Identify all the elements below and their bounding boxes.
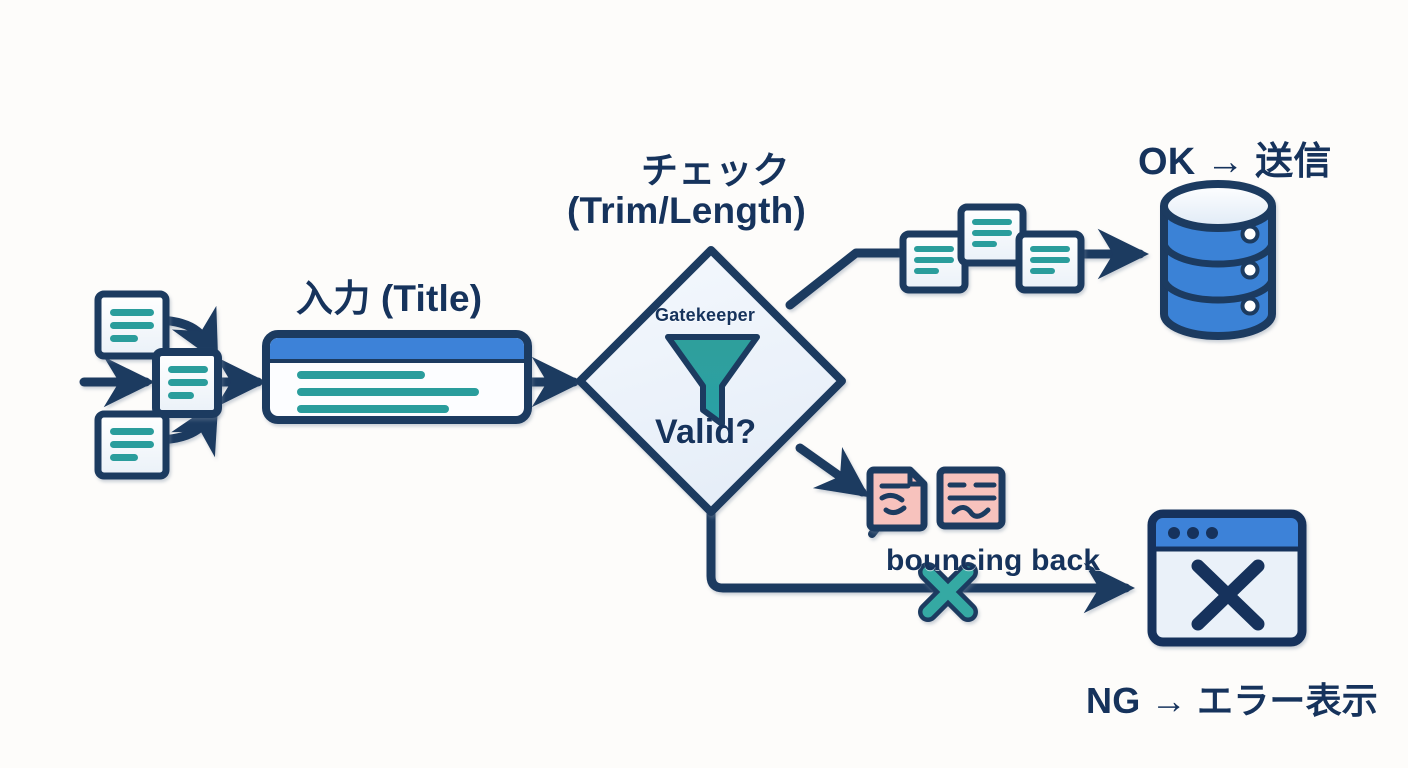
diagram-canvas: 入力 (Title) チェック (Trim/Length) Gatekeeper… (0, 0, 1408, 768)
ng-branch-label: NG → エラー表示 (1086, 672, 1378, 724)
record-card-right (1019, 234, 1081, 290)
input-label: 入力 (Title) (296, 268, 482, 322)
edge-decision-to-rejected (800, 448, 862, 492)
diagram-graphics (0, 0, 1408, 768)
edge-decision-to-ok-cards (790, 253, 905, 305)
source-doc-middle (156, 352, 218, 414)
input-form-titlebar (270, 338, 524, 360)
check-label-line1: チェック (641, 140, 790, 194)
gatekeeper-caption: Gatekeeper (655, 305, 755, 326)
bouncing-back-label: bouncing back (886, 544, 1100, 578)
source-doc-top (98, 294, 166, 356)
record-card-middle (961, 207, 1023, 263)
x-blocker-mark (928, 572, 968, 612)
record-card-stack (903, 207, 1081, 290)
input-form-card (266, 334, 528, 420)
window-dot-2 (1187, 527, 1199, 539)
edge-layer (84, 253, 1140, 588)
source-doc-bottom (98, 414, 166, 476)
check-label-line2: (Trim/Length) (567, 190, 806, 232)
ok-branch-label: OK → 送信 (1138, 130, 1332, 185)
database-cylinder (1164, 184, 1272, 336)
rejected-glyph-left (870, 470, 924, 528)
rejected-glyph-right (940, 470, 1002, 526)
valid-caption: Valid? (655, 413, 756, 452)
rejected-message-glyphs (870, 470, 1002, 528)
record-card-left (903, 234, 965, 290)
window-dot-3 (1206, 527, 1218, 539)
error-browser-window (1152, 514, 1302, 642)
window-dot-1 (1168, 527, 1180, 539)
